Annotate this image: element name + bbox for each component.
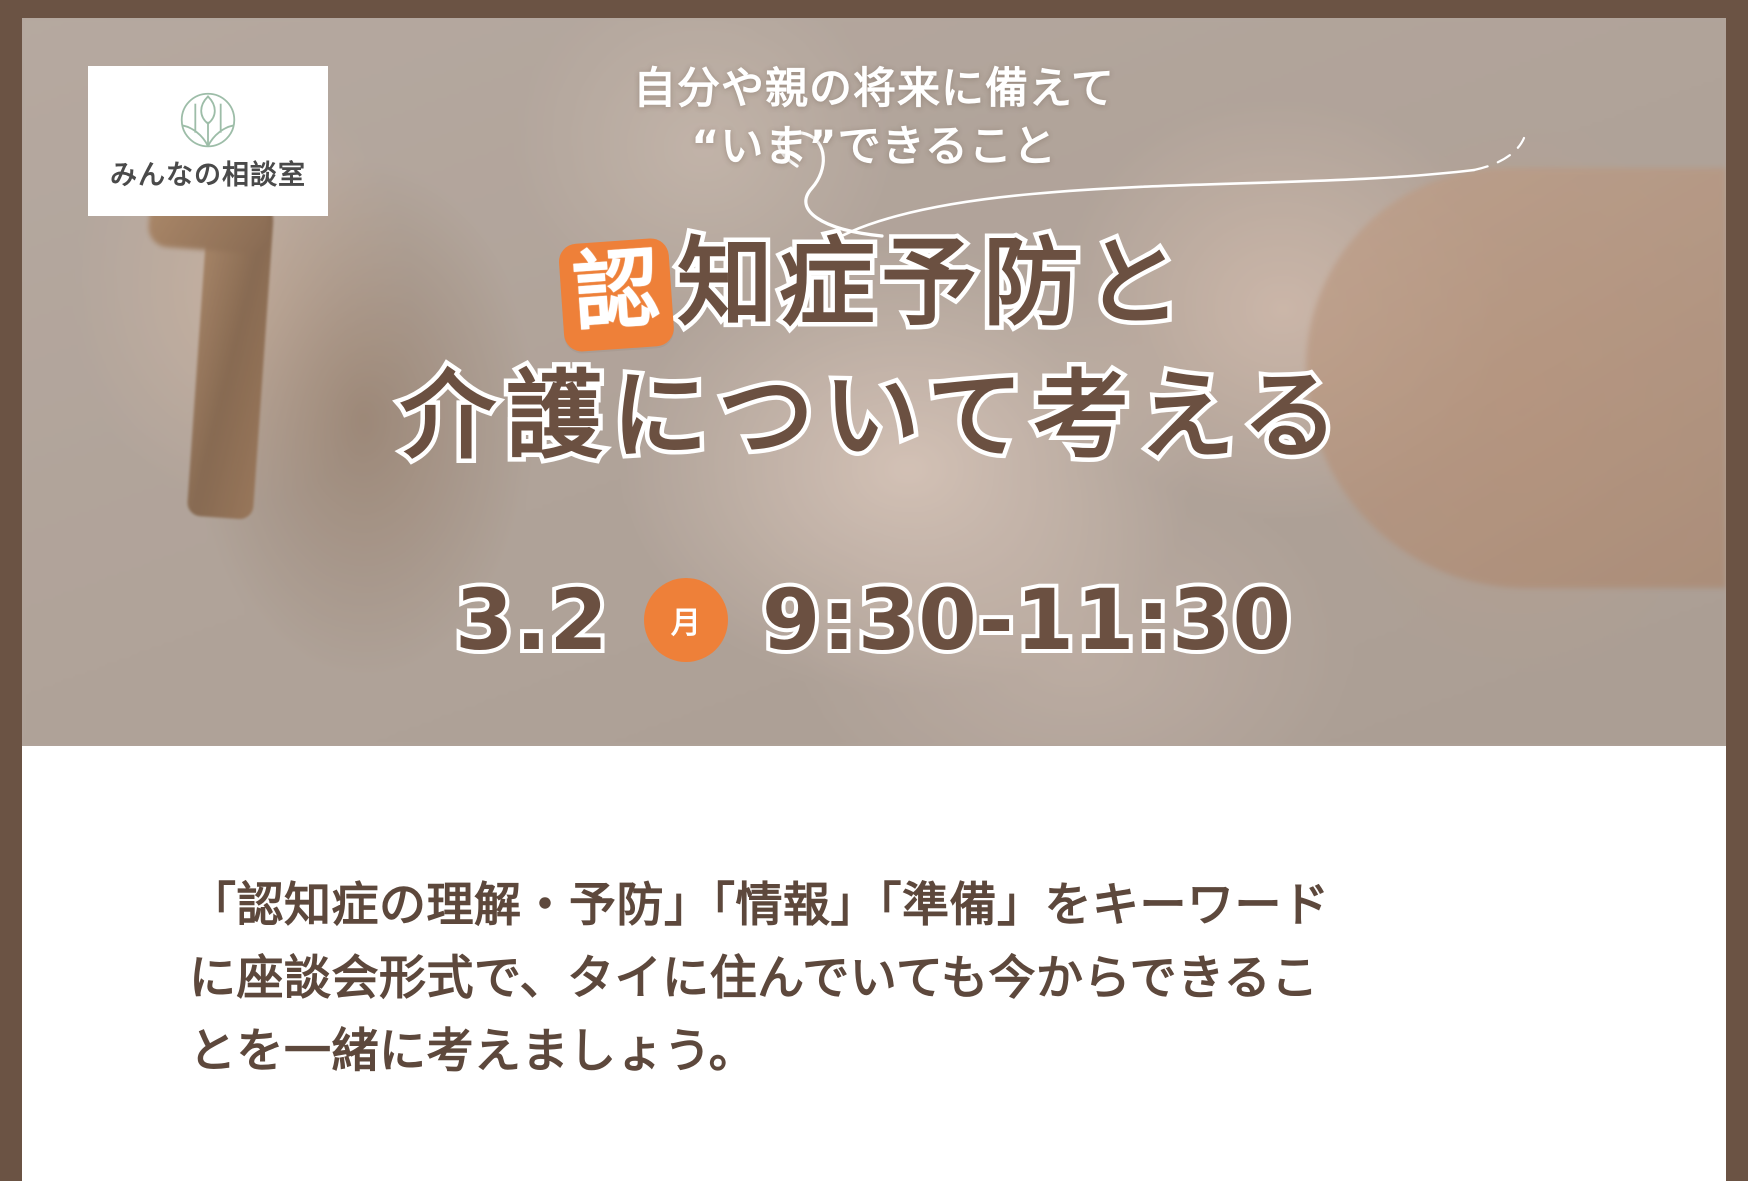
description-section: 「認知症の理解・予防」「情報」「準備」をキーワード に座談会形式で、タイに住んで… bbox=[22, 746, 1726, 1181]
description-line-3: とを一緒に考えましょう。 bbox=[189, 1016, 1559, 1089]
title-line-1-rest: 知症予防と bbox=[677, 227, 1187, 339]
leaf-circle-icon bbox=[179, 91, 237, 149]
weekday-badge: 月 bbox=[644, 578, 728, 662]
description-line-1: 「認知症の理解・予防」「情報」「準備」をキーワード bbox=[189, 870, 1559, 943]
title-line-1: 認知症予防と bbox=[22, 214, 1726, 353]
hero-banner: みんなの相談室 自分や親の将来に備えて “いま”できること 認知症予防と 介護に… bbox=[22, 18, 1726, 746]
organization-logo-box: みんなの相談室 bbox=[88, 66, 328, 216]
nin-character-badge: 認 bbox=[558, 238, 675, 354]
event-date: 3.2 bbox=[455, 578, 610, 662]
title-line-2: 介護について考える bbox=[22, 347, 1726, 486]
description-line-2: に座談会形式で、タイに住んでいても今からできるこ bbox=[189, 943, 1559, 1016]
description-text: 「認知症の理解・予防」「情報」「準備」をキーワード に座談会形式で、タイに住んで… bbox=[189, 870, 1559, 1089]
logo-wordmark: みんなの相談室 bbox=[110, 153, 306, 192]
event-date-row: 3.2 月 9:30-11:30 bbox=[22, 578, 1726, 662]
event-flyer: みんなの相談室 自分や親の将来に備えて “いま”できること 認知症予防と 介護に… bbox=[0, 0, 1748, 1181]
event-time: 9:30-11:30 bbox=[762, 578, 1293, 662]
weekday-label: 月 bbox=[671, 598, 701, 642]
hero-title: 認知症予防と 介護について考える bbox=[22, 214, 1726, 486]
